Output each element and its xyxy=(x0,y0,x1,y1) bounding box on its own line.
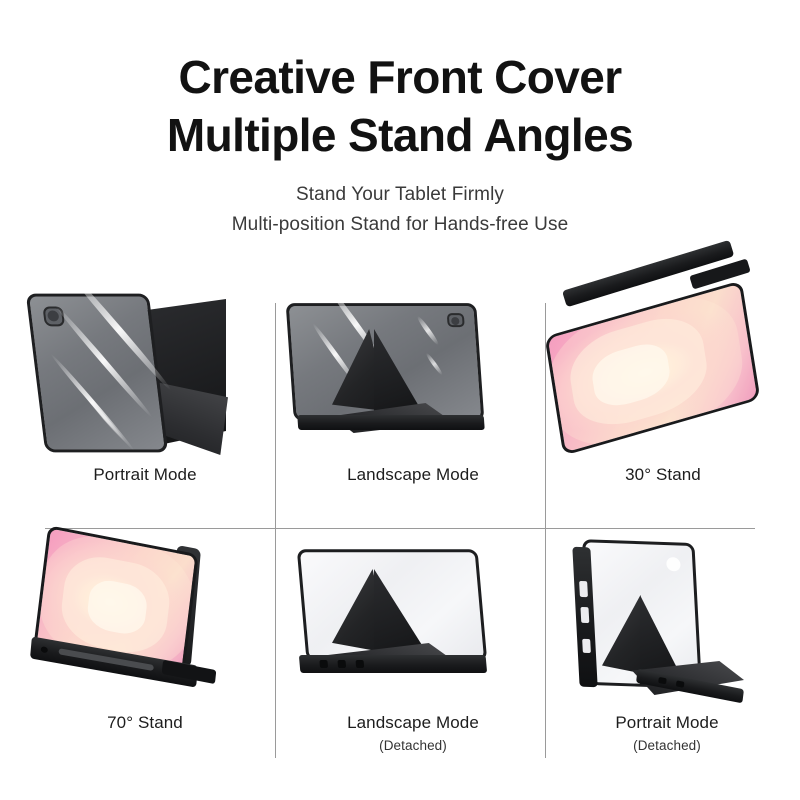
grid-cell-landscape-detached: Landscape Mode (Detached) xyxy=(280,533,546,773)
grid-divider-horizontal xyxy=(45,528,755,529)
headline-line-1: Creative Front Cover xyxy=(0,48,800,106)
caption-landscape-detached: Landscape Mode (Detached) xyxy=(280,711,546,755)
grid-cell-portrait-mode: Portrait Mode xyxy=(12,285,278,525)
caption-text: Landscape Mode xyxy=(347,713,479,732)
grid-cell-stand-30: 30° Stand xyxy=(540,285,800,525)
caption-portrait-detached: Portrait Mode (Detached) xyxy=(534,711,800,755)
product-image-stand-30 xyxy=(540,285,800,465)
subtitles: Stand Your Tablet Firmly Multi-position … xyxy=(0,180,800,240)
caption-text: 70° Stand xyxy=(107,713,183,732)
caption-landscape-mode: Landscape Mode xyxy=(280,463,546,487)
feature-grid: Portrait Mode xyxy=(0,285,800,775)
grid-cell-stand-70: 70° Stand xyxy=(12,533,278,773)
caption-sub-text: (Detached) xyxy=(280,737,546,755)
caption-stand-70: 70° Stand xyxy=(12,711,278,735)
subtitle-line-1: Stand Your Tablet Firmly xyxy=(0,180,800,210)
caption-sub-text: (Detached) xyxy=(534,737,800,755)
caption-text: 30° Stand xyxy=(625,465,701,484)
headline-line-2: Multiple Stand Angles xyxy=(0,106,800,164)
caption-portrait-mode: Portrait Mode xyxy=(12,463,278,487)
grid-cell-landscape-mode: Landscape Mode xyxy=(280,285,546,525)
product-image-stand-70 xyxy=(12,533,278,713)
product-image-portrait-mode xyxy=(12,285,278,465)
header: Creative Front Cover Multiple Stand Angl… xyxy=(0,48,800,240)
product-image-portrait-detached xyxy=(540,533,800,713)
caption-text: Portrait Mode xyxy=(615,713,718,732)
caption-stand-30: 30° Stand xyxy=(530,463,796,487)
grid-cell-portrait-detached: Portrait Mode (Detached) xyxy=(540,533,800,773)
product-feature-page: Creative Front Cover Multiple Stand Angl… xyxy=(0,0,800,800)
headline: Creative Front Cover Multiple Stand Angl… xyxy=(0,48,800,164)
subtitle-line-2: Multi-position Stand for Hands-free Use xyxy=(0,210,800,240)
caption-text: Portrait Mode xyxy=(93,465,196,484)
caption-text: Landscape Mode xyxy=(347,465,479,484)
product-image-landscape-detached xyxy=(280,533,546,713)
product-image-landscape-mode xyxy=(280,285,546,465)
